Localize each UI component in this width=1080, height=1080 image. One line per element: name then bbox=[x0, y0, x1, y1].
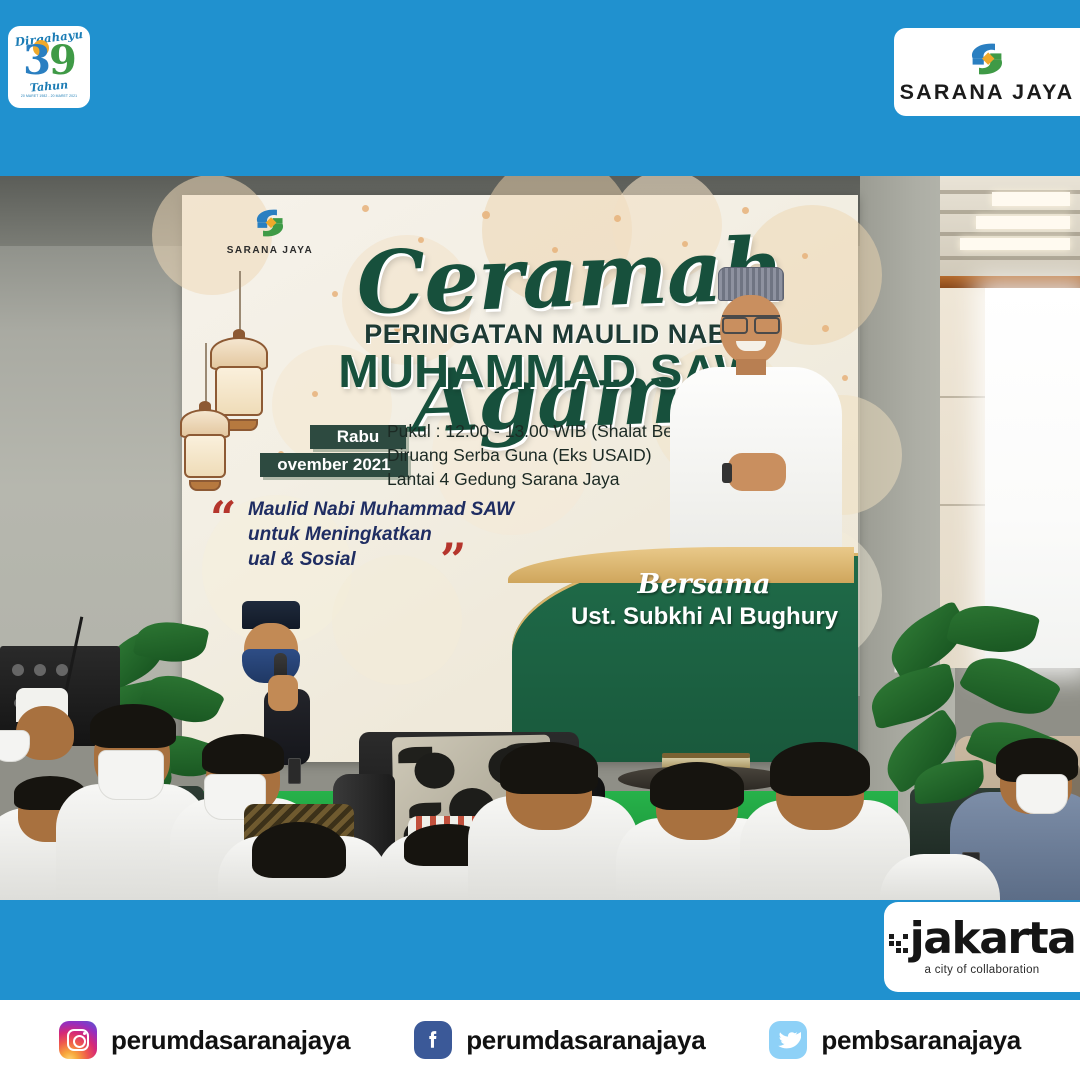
twitter-icon[interactable] bbox=[769, 1021, 807, 1059]
jakarta-tagline: a city of collaboration bbox=[925, 964, 1040, 976]
facebook-icon[interactable] bbox=[414, 1021, 452, 1059]
banner-bersama-label: Bersama bbox=[574, 569, 834, 600]
jakarta-wordmark: jakarta bbox=[910, 919, 1076, 959]
sarana-jaya-logo-icon bbox=[249, 207, 291, 239]
sarana-jaya-logo-icon bbox=[963, 40, 1011, 78]
quote-close-icon: ” bbox=[440, 537, 466, 583]
jakarta-dots-icon bbox=[889, 934, 908, 953]
event-poster: Dirgahayu 39 Tahun 20 MARET 1982 - 20 MA… bbox=[0, 0, 1080, 1080]
twitter-handle[interactable]: pembsaranajaya bbox=[821, 1025, 1021, 1056]
audience-rows bbox=[0, 712, 1080, 900]
banner-date-full: ovember 2021 bbox=[260, 453, 408, 477]
quote-open-icon: “ bbox=[210, 495, 236, 541]
quote-line: Maulid Nabi Muhammad SAW bbox=[248, 497, 578, 522]
room-ceiling bbox=[940, 176, 1080, 281]
anniversary-badge: Dirgahayu 39 Tahun 20 MARET 1982 - 20 MA… bbox=[8, 26, 90, 108]
anniversary-dates: 20 MARET 1982 - 20 MARET 2021 bbox=[12, 94, 86, 98]
poster-header: Dirgahayu 39 Tahun 20 MARET 1982 - 20 MA… bbox=[0, 0, 1080, 176]
jakarta-city-badge: jakarta a city of collaboration bbox=[884, 902, 1080, 992]
facebook-handle[interactable]: perumdasaranajaya bbox=[466, 1025, 705, 1056]
quote-line: untuk Meningkatkan bbox=[248, 522, 578, 547]
banner-quote: Maulid Nabi Muhammad SAW untuk Meningkat… bbox=[248, 497, 578, 572]
social-twitter[interactable]: pembsaranajaya bbox=[769, 1021, 1021, 1059]
social-facebook[interactable]: perumdasaranajaya bbox=[414, 1021, 705, 1059]
banner-speaker-name: Ust. Subkhi Al Bughury bbox=[562, 603, 847, 631]
banner-speaker-portrait bbox=[660, 267, 850, 587]
social-instagram[interactable]: perumdasaranajaya bbox=[59, 1021, 350, 1059]
social-media-footer: perumdasaranajaya perumdasaranajaya pemb… bbox=[0, 1000, 1080, 1080]
instagram-handle[interactable]: perumdasaranajaya bbox=[111, 1025, 350, 1056]
brand-badge: SARANA JAYA bbox=[894, 28, 1080, 116]
anniversary-number: 39 bbox=[10, 39, 88, 83]
instagram-icon[interactable] bbox=[59, 1021, 97, 1059]
brand-name: SARANA JAYA bbox=[900, 80, 1075, 105]
ceiling-wood-trim bbox=[940, 276, 1080, 288]
event-photograph: SARANA JAYA Ceramah Agama PERINGATAN MAU… bbox=[0, 176, 1080, 900]
lantern-decoration-icon bbox=[180, 407, 230, 491]
glasses-icon bbox=[722, 315, 780, 328]
